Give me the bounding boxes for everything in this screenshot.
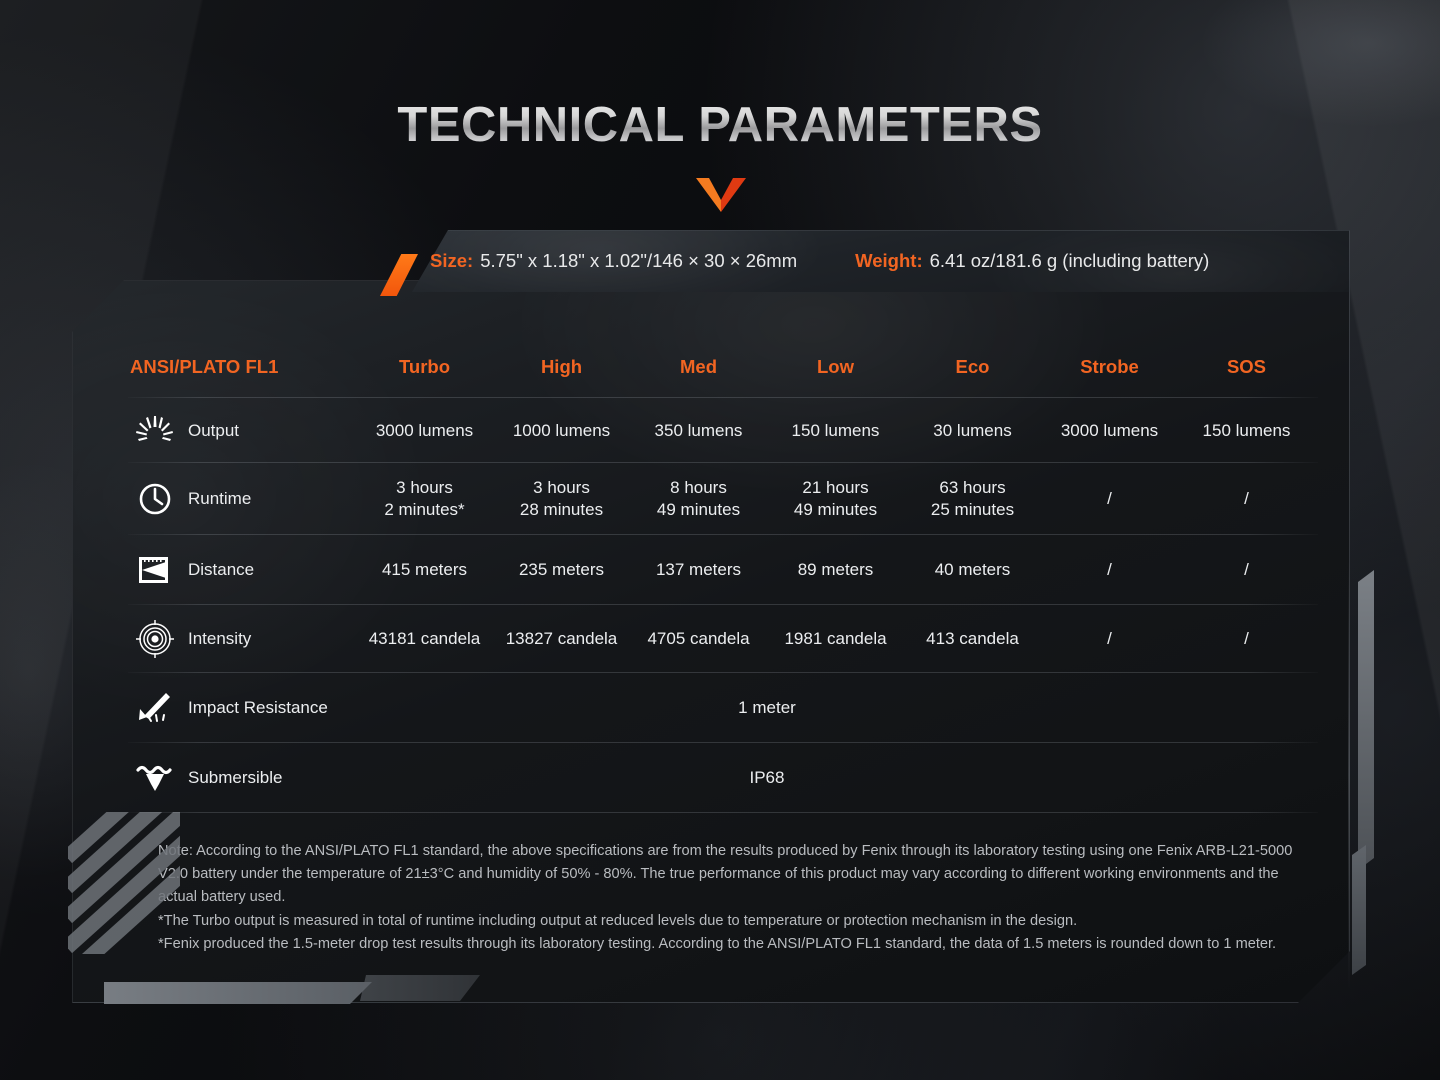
beam-distance-icon — [130, 554, 180, 586]
row-label-text: Output — [188, 420, 239, 442]
cell-runtime-eco: 63 hours 25 minutes — [904, 463, 1041, 535]
row-label-text: Runtime — [188, 488, 251, 510]
row-label-text: Intensity — [188, 628, 251, 650]
row-label-output: Output — [128, 398, 356, 463]
footnote-line-3: *Fenix produced the 1.5-meter drop test … — [158, 933, 1310, 956]
table-row: Impact Resistance 1 meter — [128, 673, 1318, 743]
row-label-intensity: Intensity — [128, 605, 356, 673]
decorative-stripes — [68, 812, 180, 954]
submersible-icon — [130, 762, 180, 794]
column-header-eco: Eco — [904, 336, 1041, 398]
table-row: Distance 415 meters 235 meters 137 meter… — [128, 535, 1318, 605]
row-label-impact-resistance: Impact Resistance — [128, 673, 493, 743]
column-header-low: Low — [767, 336, 904, 398]
cell-distance-high: 235 meters — [493, 535, 630, 605]
cell-output-sos: 150 lumens — [1178, 398, 1315, 463]
cell-runtime-med: 8 hours 49 minutes — [630, 463, 767, 535]
cell-runtime-turbo: 3 hours 2 minutes* — [356, 463, 493, 535]
cell-output-low: 150 lumens — [767, 398, 904, 463]
row-label-runtime: Runtime — [128, 463, 356, 535]
table-header-row: ANSI/PLATO FL1 Turbo High Med Low Eco St… — [128, 336, 1318, 398]
column-header-med: Med — [630, 336, 767, 398]
size-label: Size: — [430, 250, 473, 272]
row-label-submersible: Submersible — [128, 743, 493, 813]
weight-label: Weight: — [855, 250, 922, 272]
cell-distance-eco: 40 meters — [904, 535, 1041, 605]
clock-icon — [130, 482, 180, 516]
cell-intensity-turbo: 43181 candela — [356, 605, 493, 673]
cell-submersible-value: IP68 — [493, 743, 1041, 813]
impact-drop-icon — [130, 691, 180, 725]
cell-output-eco: 30 lumens — [904, 398, 1041, 463]
page-title: TECHNICAL PARAMETERS — [0, 97, 1440, 153]
column-header-sos: SOS — [1178, 336, 1315, 398]
cell-intensity-high: 13827 candela — [493, 605, 630, 673]
column-header-high: High — [493, 336, 630, 398]
row-label-distance: Distance — [128, 535, 356, 605]
target-intensity-icon — [130, 620, 180, 658]
cell-distance-low: 89 meters — [767, 535, 904, 605]
column-header-strobe: Strobe — [1041, 336, 1178, 398]
cell-output-turbo: 3000 lumens — [356, 398, 493, 463]
cell-runtime-sos: / — [1178, 463, 1315, 535]
sunburst-icon — [130, 416, 180, 446]
cell-intensity-eco: 413 candela — [904, 605, 1041, 673]
decorative-right-edge — [1348, 560, 1350, 990]
cell-intensity-med: 4705 candela — [630, 605, 767, 673]
row-label-text: Impact Resistance — [188, 697, 328, 719]
parameters-table: ANSI/PLATO FL1 Turbo High Med Low Eco St… — [128, 336, 1318, 813]
cell-distance-strobe: / — [1041, 535, 1178, 605]
decorative-bottom-bar — [104, 982, 372, 1004]
technical-parameters-page: TECHNICAL PARAMETERS Size: 5.75" x 1.18"… — [0, 0, 1440, 1080]
cell-output-med: 350 lumens — [630, 398, 767, 463]
size-spec: Size: 5.75" x 1.18" x 1.02"/146 × 30 × 2… — [430, 250, 797, 272]
decorative-right-bar — [1358, 570, 1374, 870]
footnote-line-2: *The Turbo output is measured in total o… — [158, 910, 1310, 933]
row-label-text: Submersible — [188, 767, 283, 789]
footnote-block: Note: According to the ANSI/PLATO FL1 st… — [158, 840, 1310, 956]
size-weight-text: Size: 5.75" x 1.18" x 1.02"/146 × 30 × 2… — [412, 230, 1350, 292]
decorative-bottom-bar-secondary — [360, 975, 480, 1001]
cell-runtime-strobe: / — [1041, 463, 1178, 535]
column-header-ansi-plato-fl1: ANSI/PLATO FL1 — [128, 336, 356, 398]
cell-output-high: 1000 lumens — [493, 398, 630, 463]
cell-distance-med: 137 meters — [630, 535, 767, 605]
chevron-down-icon — [696, 178, 746, 212]
footnote-line-1: Note: According to the ANSI/PLATO FL1 st… — [158, 840, 1310, 910]
row-label-text: Distance — [188, 559, 254, 581]
cell-distance-sos: / — [1178, 535, 1315, 605]
weight-value: 6.41 oz/181.6 g (including battery) — [930, 250, 1210, 272]
cell-impact-resistance-value: 1 meter — [493, 673, 1041, 743]
table-row: Output 3000 lumens 1000 lumens 350 lumen… — [128, 398, 1318, 463]
table-row: Submersible IP68 — [128, 743, 1318, 813]
table-row: Intensity 43181 candela 13827 candela 47… — [128, 605, 1318, 673]
cell-intensity-sos: / — [1178, 605, 1315, 673]
cell-distance-turbo: 415 meters — [356, 535, 493, 605]
cell-output-strobe: 3000 lumens — [1041, 398, 1178, 463]
table-row: Runtime 3 hours 2 minutes* 3 hours 28 mi… — [128, 463, 1318, 535]
size-value: 5.75" x 1.18" x 1.02"/146 × 30 × 26mm — [480, 250, 797, 272]
cell-runtime-high: 3 hours 28 minutes — [493, 463, 630, 535]
decorative-right-bar-secondary — [1352, 845, 1366, 975]
weight-spec: Weight: 6.41 oz/181.6 g (including batte… — [855, 250, 1209, 272]
column-header-turbo: Turbo — [356, 336, 493, 398]
cell-intensity-low: 1981 candela — [767, 605, 904, 673]
cell-runtime-low: 21 hours 49 minutes — [767, 463, 904, 535]
cell-intensity-strobe: / — [1041, 605, 1178, 673]
